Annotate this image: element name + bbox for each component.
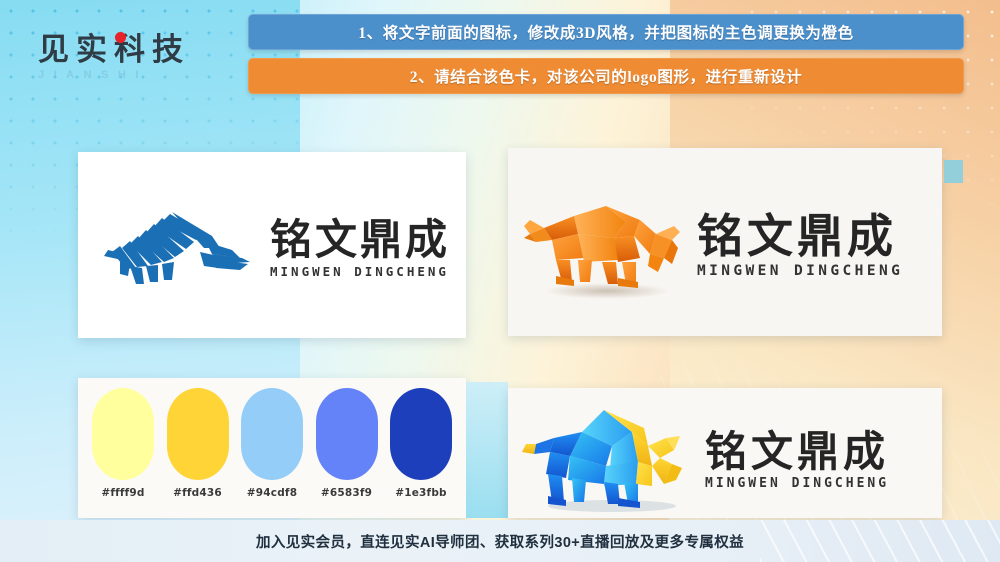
color-palette: #ffff9d #ffd436 #94cdf8 #6583f9 #1e3fbb [90, 388, 454, 508]
wordmark-original: 铭文鼎成 MINGWEN DINGCHENG [270, 218, 450, 280]
instruction-banner-1: 1、将文字前面的图标，修改成3D风格，并把图标的主色调更换为橙色 [248, 14, 964, 50]
bull-lowpoly-blue-icon [520, 402, 695, 519]
corner-accent-square [944, 160, 963, 183]
instruction-banner-1-text: 1、将文字前面的图标，修改成3D风格，并把图标的主色调更换为橙色 [358, 21, 853, 43]
swatch-label: #1e3fbb [395, 487, 447, 499]
swatch[interactable]: #ffff9d [90, 388, 156, 499]
bull-3d-orange-icon [522, 186, 687, 306]
brand-name-en: JIANSHI [38, 69, 238, 81]
slide-canvas: 见实科技 JIANSHI 1、将文字前面的图标，修改成3D风格，并把图标的主色调… [0, 0, 1000, 562]
wordmark-orange-cn: 铭文鼎成 [697, 213, 903, 261]
footer-text: 加入见实会员，直连见实AI导师团、获取系列30+直播回放及更多专属权益 [256, 531, 744, 552]
footer-bar: 加入见实会员，直连见实AI导师团、获取系列30+直播回放及更多专属权益 [0, 520, 1000, 562]
instruction-banner-2: 2、请结合该色卡，对该公司的logo图形，进行重新设计 [248, 58, 964, 94]
instruction-banner-2-text: 2、请结合该色卡，对该公司的logo图形，进行重新设计 [410, 65, 803, 87]
swatch[interactable]: #1e3fbb [388, 388, 454, 499]
brand-accent-dot-icon [115, 32, 126, 43]
wordmark-orange: 铭文鼎成 MINGWEN DINGCHENG [697, 213, 903, 280]
wordmark-blue: 铭文鼎成 MINGWEN DINGCHENG [705, 430, 889, 492]
wordmark-original-cn: 铭文鼎成 [270, 218, 450, 262]
brand-logo: 见实科技 JIANSHI [38, 34, 238, 94]
swatch[interactable]: #6583f9 [314, 388, 380, 499]
palette-side-accent [466, 382, 508, 518]
logo-lockup-orange: 铭文鼎成 MINGWEN DINGCHENG [522, 186, 903, 306]
swatch-label: #ffff9d [101, 487, 144, 499]
wordmark-blue-cn: 铭文鼎成 [705, 430, 889, 474]
brand-name-cn: 见实科技 [38, 32, 190, 67]
wordmark-original-en: MINGWEN DINGCHENG [270, 264, 450, 279]
swatch-chip [167, 388, 229, 480]
swatch-chip [92, 388, 154, 480]
swatch-label: #ffd436 [173, 487, 222, 499]
footer-decorative-rays [760, 520, 1000, 562]
swatch-chip [241, 388, 303, 480]
swatch-label: #6583f9 [321, 487, 372, 499]
swatch-chip [316, 388, 378, 480]
swatch[interactable]: #94cdf8 [239, 388, 305, 499]
swatch-chip [390, 388, 452, 480]
logo-lockup-original: 铭文鼎成 MINGWEN DINGCHENG [100, 196, 450, 301]
logo-lockup-blue-yellow: 铭文鼎成 MINGWEN DINGCHENG [520, 402, 889, 519]
wordmark-blue-en: MINGWEN DINGCHENG [705, 476, 889, 491]
bull-flat-icon [100, 196, 260, 301]
wordmark-orange-en: MINGWEN DINGCHENG [697, 263, 903, 279]
swatch-label: #94cdf8 [247, 487, 297, 499]
swatch[interactable]: #ffd436 [165, 388, 231, 499]
